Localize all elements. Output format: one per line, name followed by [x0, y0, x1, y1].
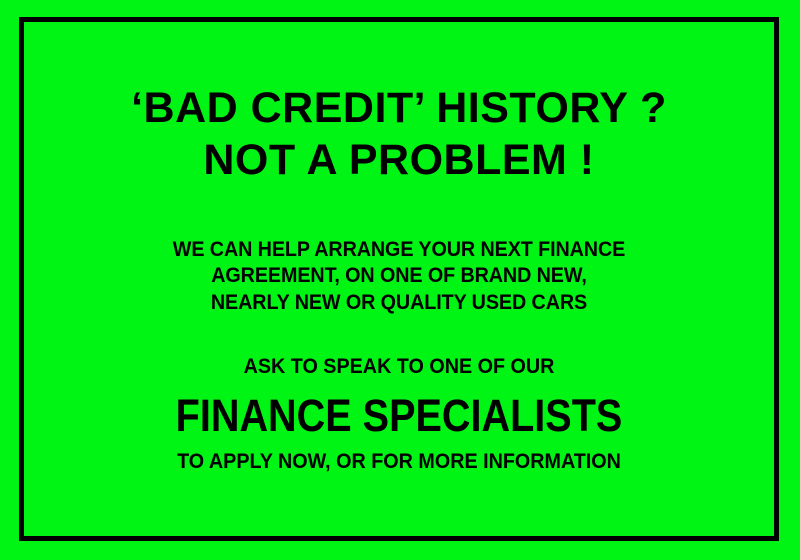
cta-headline-finance-specialists: FINANCE SPECIALISTS	[69, 389, 729, 443]
finance-advert-poster: ‘BAD CREDIT’ HISTORY ? NOT A PROBLEM ! W…	[0, 0, 800, 560]
cta-footer-text: TO APPLY NOW, OR FOR MORE INFORMATION	[47, 449, 752, 475]
body-line-1: WE CAN HELP ARRANGE YOUR NEXT FINANCE	[47, 237, 752, 263]
cta-lead-text: ASK TO SPEAK TO ONE OF OUR	[47, 354, 752, 380]
body-copy-block: WE CAN HELP ARRANGE YOUR NEXT FINANCE AG…	[24, 237, 774, 316]
poster-content: ‘BAD CREDIT’ HISTORY ? NOT A PROBLEM ! W…	[24, 22, 774, 536]
body-line-3: NEARLY NEW OR QUALITY USED CARS	[47, 290, 752, 316]
body-line-2: AGREEMENT, ON ONE OF BRAND NEW,	[47, 263, 752, 289]
headline-block: ‘BAD CREDIT’ HISTORY ? NOT A PROBLEM !	[24, 82, 774, 187]
headline-line-2: NOT A PROBLEM !	[24, 134, 774, 186]
call-to-action-block: ASK TO SPEAK TO ONE OF OUR FINANCE SPECI…	[24, 354, 774, 475]
headline-line-1: ‘BAD CREDIT’ HISTORY ?	[24, 82, 774, 134]
